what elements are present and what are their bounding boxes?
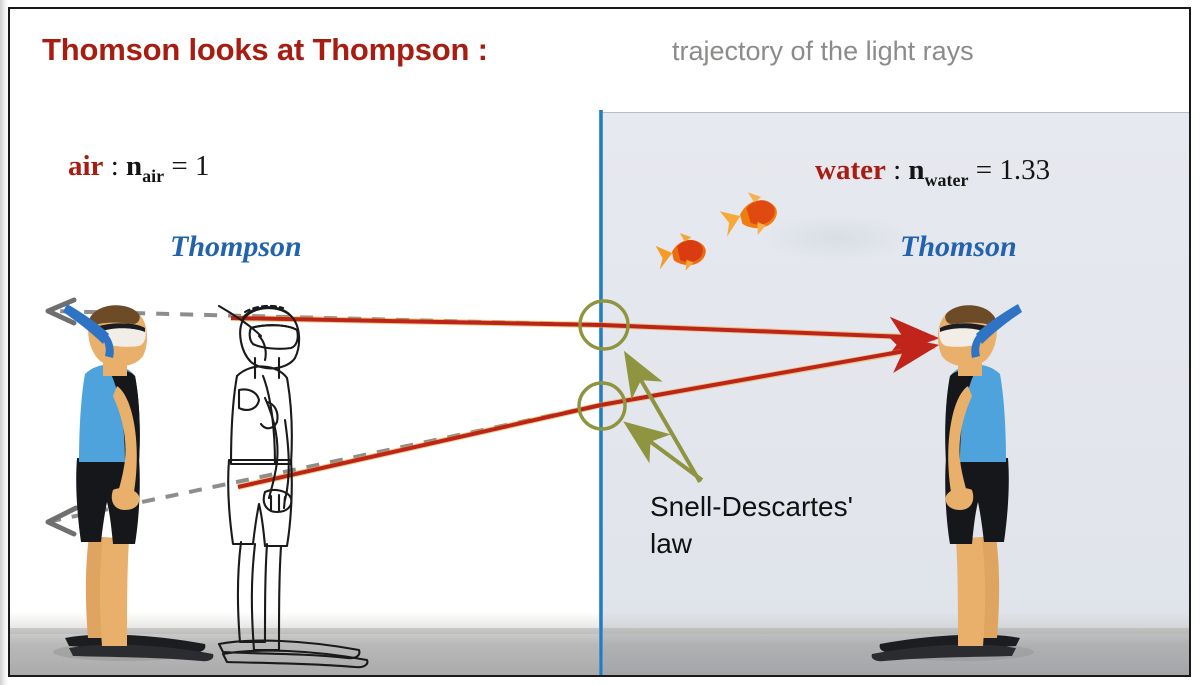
thomson-leg-front — [956, 538, 985, 646]
snell-pointer-arrows — [627, 356, 702, 482]
diver-thompson-real — [53, 304, 213, 661]
virtual-ray-lower-arrowhead — [48, 508, 76, 534]
ray-diagram-overlay — [0, 0, 1200, 685]
diagram-canvas: Thomson looks at Thompson : trajectory o… — [0, 0, 1200, 685]
thompson-leg-front — [100, 538, 129, 646]
snell-arrow-to-lower-marker — [628, 425, 702, 480]
fish-2 — [717, 186, 782, 243]
fish-group — [653, 186, 782, 276]
diver-thomson-observer — [872, 304, 1034, 661]
snell-arrow-to-upper-marker — [627, 356, 700, 482]
scan-edge-shadow — [0, 0, 9, 685]
fish-1 — [653, 229, 709, 276]
light-ray-lower — [238, 346, 935, 487]
